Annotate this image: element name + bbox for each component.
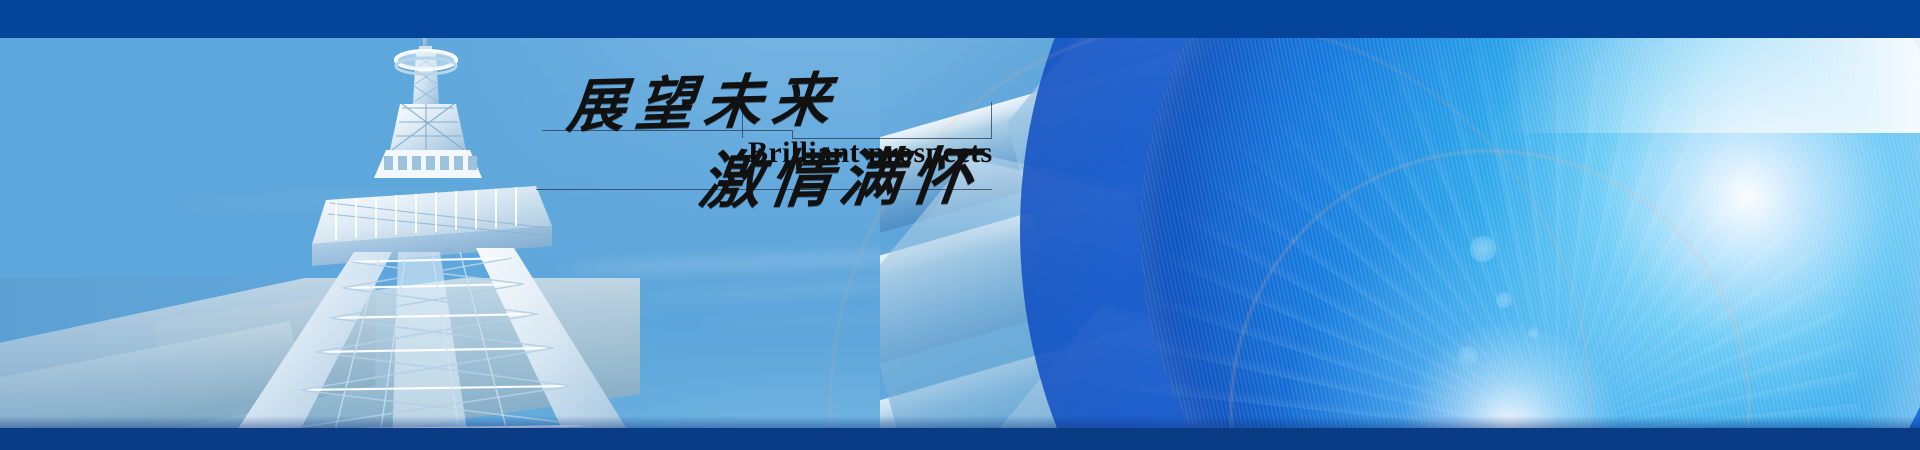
decorative-rule-vertical — [991, 102, 992, 138]
top-navy-band — [0, 0, 1920, 38]
bottom-navy-band — [0, 428, 1920, 450]
bokeh-dot — [1668, 188, 1682, 202]
bokeh-dot — [1470, 236, 1496, 262]
tokyo-tower-icon — [140, 0, 660, 450]
bokeh-dot — [1528, 328, 1539, 339]
bokeh-dot — [1496, 292, 1512, 308]
headline-chinese-secondary: 激情满怀 — [696, 146, 984, 213]
headline-chinese-primary: 展望未来 — [565, 70, 843, 135]
bokeh-dot — [1458, 346, 1478, 366]
white-haze-strip — [1500, 38, 1920, 133]
promotional-banner: 展望未来 Brilliant prospects 激情满怀 — [0, 0, 1920, 450]
